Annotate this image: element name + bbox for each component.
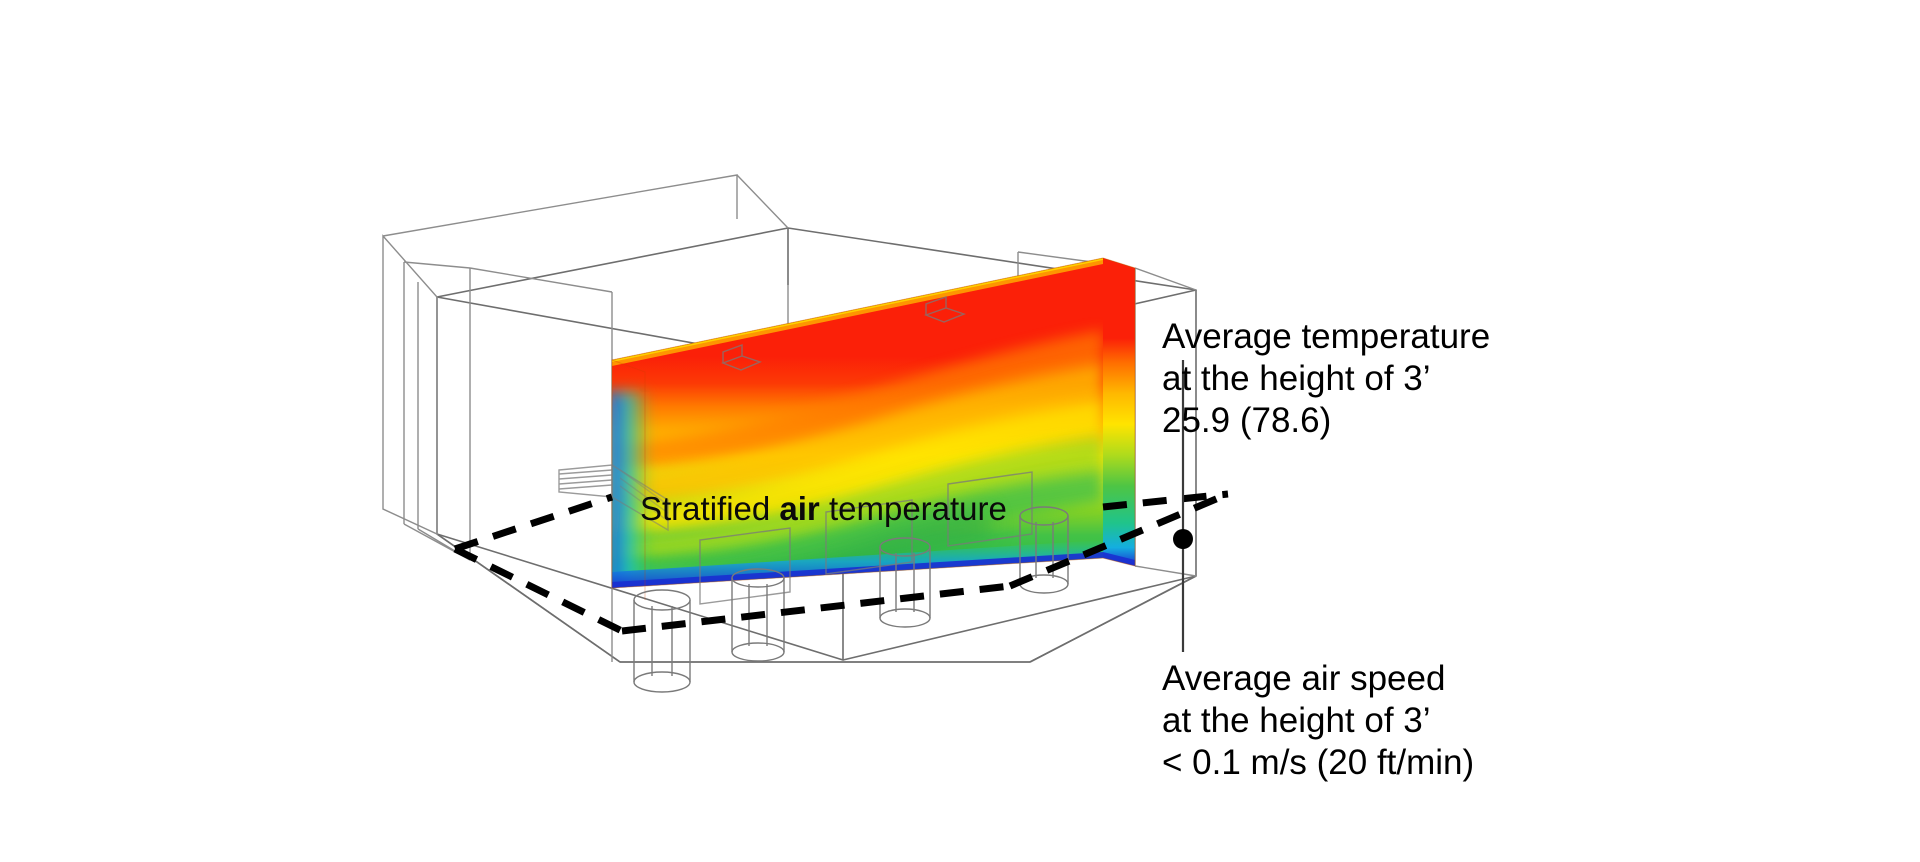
- back-ledge: [1018, 252, 1092, 262]
- annotation-plane-label: Stratified air temperature: [640, 490, 1007, 527]
- figure-root: Stratified air temperature Average tempe…: [0, 0, 1920, 862]
- annotation-airspeed-callout: Average air speed at the height of 3’ < …: [1162, 659, 1474, 782]
- stratified-suffix: temperature: [820, 490, 1007, 527]
- speed-callout-line-2: at the height of 3’: [1162, 701, 1431, 740]
- inner-ledge-a: [404, 262, 470, 268]
- speed-callout-line-3: < 0.1 m/s (20 ft/min): [1162, 743, 1474, 782]
- plane-edge-back-left: [455, 497, 612, 549]
- section-plane-side-face: [1103, 258, 1135, 566]
- right-inner-top: [1135, 268, 1196, 290]
- diffuser-1: [634, 590, 690, 692]
- inner-beam: [470, 268, 612, 292]
- wall-grille-slat-2: [559, 475, 612, 479]
- measurement-point-marker: [1173, 529, 1193, 549]
- temp-callout-line-3: 25.9 (78.6): [1162, 401, 1331, 440]
- stratified-emphasis: air: [779, 490, 820, 527]
- annotation-temperature-callout: Average temperature at the height of 3’ …: [1162, 317, 1490, 440]
- speed-callout-line-1: Average air speed: [1162, 659, 1445, 698]
- wall-grille-slat-1: [559, 470, 612, 474]
- temp-callout-line-2: at the height of 3’: [1162, 359, 1431, 398]
- stratified-prefix: Stratified: [640, 490, 779, 527]
- temp-callout-line-1: Average temperature: [1162, 317, 1490, 356]
- stratified-air-temperature-label: Stratified air temperature: [640, 490, 1007, 527]
- wall-grille-slat-4: [559, 485, 612, 489]
- left-shell-top-join: [737, 175, 788, 228]
- left-shell-top: [383, 175, 737, 236]
- wall-grille-slat-3: [559, 480, 612, 484]
- floor-right-edge: [1030, 576, 1196, 662]
- temperature-section-plane: [608, 252, 1140, 600]
- plane-edge-front-left: [455, 549, 622, 631]
- right-inner-bottom: [1135, 566, 1196, 576]
- cfd-visualization: Stratified air temperature Average tempe…: [0, 0, 1920, 862]
- left-end-wall: [383, 236, 437, 534]
